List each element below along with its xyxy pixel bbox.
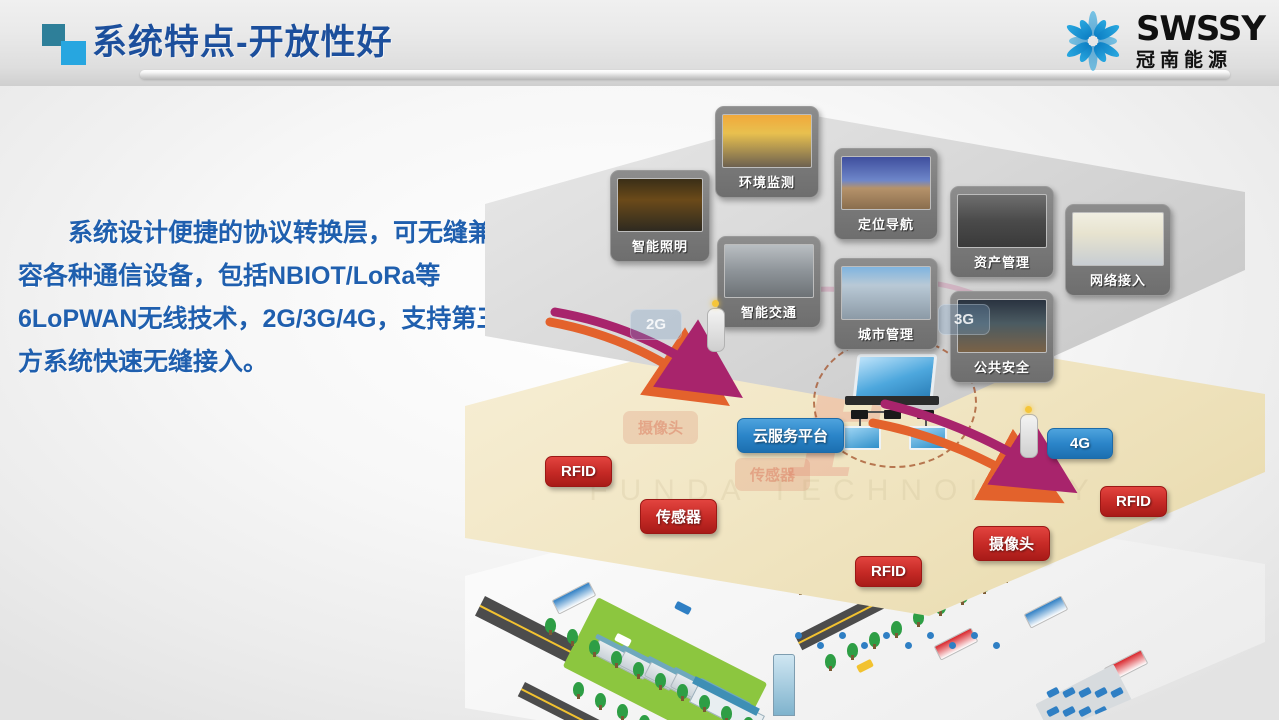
app-card-smart-lighting[interactable]: 智能照明 xyxy=(610,170,710,262)
smokestack-pollution-icon xyxy=(722,114,812,168)
map-pda-device-icon xyxy=(1072,212,1164,266)
sensor-node-dot xyxy=(927,632,934,639)
tree xyxy=(617,704,628,719)
badge-cloud-platform[interactable]: 云服务平台 xyxy=(737,418,844,453)
app-card-city-management[interactable]: 城市管理 xyxy=(834,258,938,350)
sensor-node-dot xyxy=(905,642,912,649)
sensor-node-dot xyxy=(839,632,846,639)
tree xyxy=(545,618,556,633)
two-squares-icon xyxy=(42,24,88,66)
app-card-label: 资产管理 xyxy=(974,248,1030,274)
isometric-architecture-diagram: F FUNDA TECHNOLOGY xyxy=(455,86,1279,706)
city-skyline-icon xyxy=(841,266,931,320)
night-city-lighting-icon xyxy=(617,178,703,232)
sensor-node-dot xyxy=(949,642,956,649)
app-card-positioning-navigation[interactable]: 定位导航 xyxy=(834,148,938,240)
badge-3g: 3G xyxy=(938,304,990,335)
badge-rfid-1[interactable]: RFID xyxy=(545,456,612,487)
sensor-node-dot xyxy=(861,642,868,649)
sensor-node-dot xyxy=(817,642,824,649)
presentation-slide: 系统特点-开放性好 SWSSY 冠南能源 系统设计便捷的协议转换层，可无缝兼容各… xyxy=(0,0,1279,720)
badge-4g[interactable]: 4G xyxy=(1047,428,1113,459)
tree xyxy=(573,682,584,697)
tree xyxy=(721,706,732,720)
app-card-network-access[interactable]: 网络接入 xyxy=(1065,204,1171,296)
tree xyxy=(847,643,858,658)
tree xyxy=(633,662,644,677)
sensor-node-dot xyxy=(971,632,978,639)
badge-2g: 2G xyxy=(630,309,682,340)
manhole-cover-icon xyxy=(957,194,1047,248)
tree xyxy=(677,684,688,699)
badge-camera[interactable]: 摄像头 xyxy=(973,526,1050,561)
sensor-node-dot xyxy=(795,632,802,639)
slide-header: 系统特点-开放性好 SWSSY 冠南能源 xyxy=(0,0,1279,86)
truck-highway-icon xyxy=(841,156,931,210)
app-card-label: 网络接入 xyxy=(1090,266,1146,292)
company-logo: SWSSY 冠南能源 xyxy=(1062,4,1265,78)
tree xyxy=(869,632,880,647)
page-title: 系统特点-开放性好 xyxy=(92,14,393,65)
tree xyxy=(611,651,622,666)
app-card-asset-management[interactable]: 资产管理 xyxy=(950,186,1054,278)
app-card-label: 城市管理 xyxy=(858,320,914,346)
app-card-label: 智能交通 xyxy=(741,298,797,324)
tree xyxy=(589,640,600,655)
tower-building xyxy=(773,654,795,716)
tree xyxy=(595,693,606,708)
tree xyxy=(639,715,650,720)
tree xyxy=(655,673,666,688)
sensor-node-dot xyxy=(883,632,890,639)
app-card-label: 环境监测 xyxy=(739,168,795,194)
app-card-label: 公共安全 xyxy=(974,353,1030,379)
traffic-jam-icon xyxy=(724,244,814,298)
vehicle xyxy=(856,659,874,673)
app-card-label: 智能照明 xyxy=(632,232,688,258)
tree xyxy=(891,621,902,636)
antenna-icon-left xyxy=(707,308,725,352)
laptop-switch-pc-network-icon xyxy=(833,354,953,446)
app-card-label: 定位导航 xyxy=(858,210,914,236)
badge-sensor[interactable]: 传感器 xyxy=(640,499,717,534)
app-card-smart-traffic[interactable]: 智能交通 xyxy=(717,236,821,328)
tree xyxy=(567,629,578,644)
antenna-icon-right xyxy=(1020,414,1038,458)
logo-name: SWSSY xyxy=(1136,12,1265,46)
watermark-label-sensor: 传感器 xyxy=(735,458,810,491)
badge-rfid-3[interactable]: RFID xyxy=(1100,486,1167,517)
app-card-environment-monitoring[interactable]: 环境监测 xyxy=(715,106,819,198)
watermark-label-camera: 摄像头 xyxy=(623,411,698,444)
blue-petal-flower-icon xyxy=(1062,10,1124,72)
body-paragraph: 系统设计便捷的协议转换层，可无缝兼容各种通信设备，包括NBIOT/LoRa等6L… xyxy=(18,212,510,384)
sensor-node-dot xyxy=(993,642,1000,649)
tree xyxy=(699,695,710,710)
badge-rfid-2[interactable]: RFID xyxy=(855,556,922,587)
logo-subtitle: 冠南能源 xyxy=(1136,51,1265,70)
tree xyxy=(825,654,836,669)
